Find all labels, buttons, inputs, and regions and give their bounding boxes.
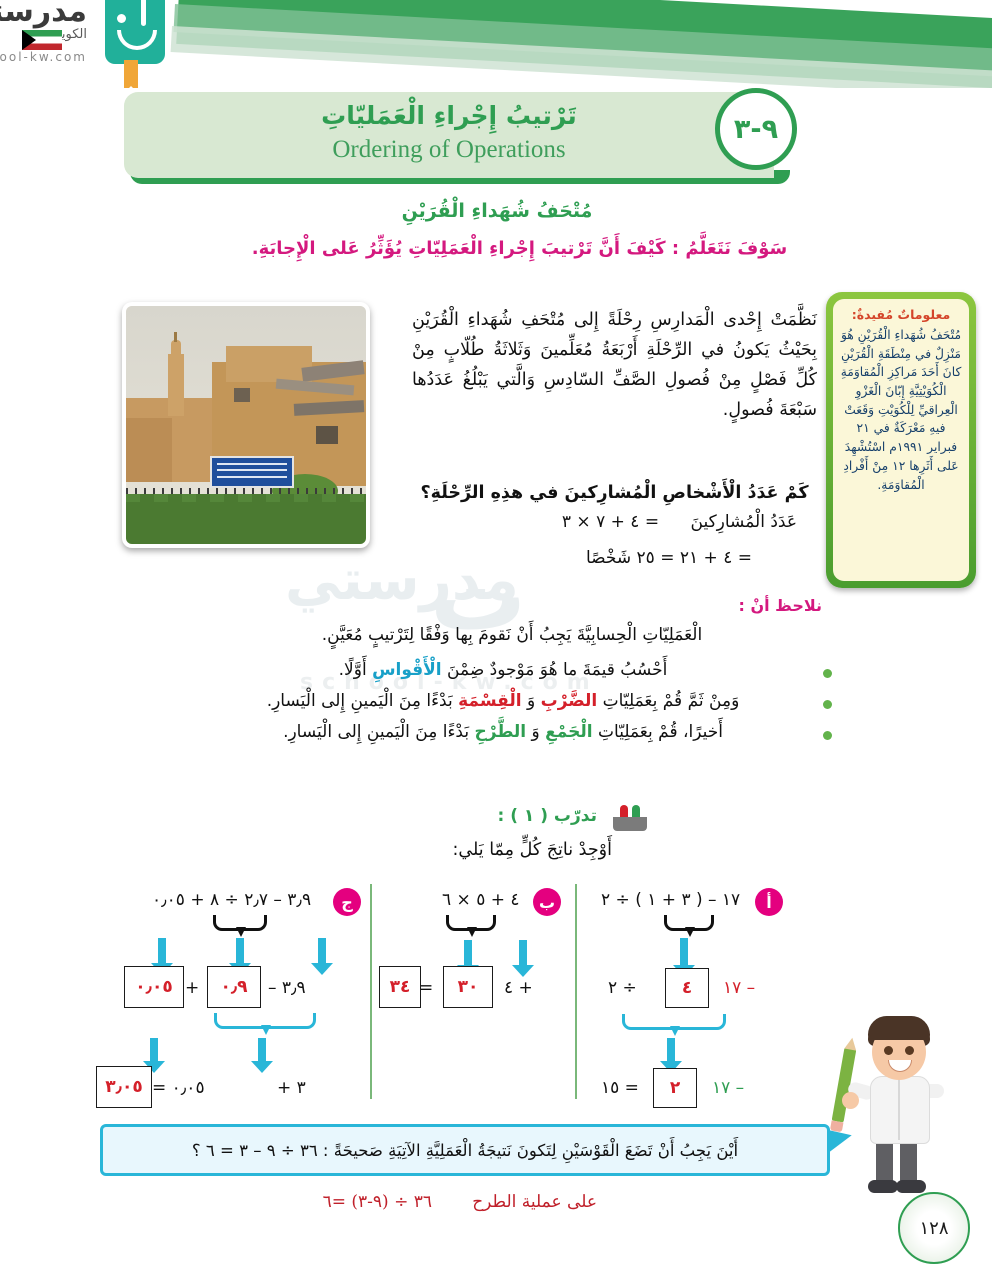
problem-label-a: أ <box>755 888 783 916</box>
problem-label-c: ج <box>333 888 361 916</box>
problem-c-plus: + <box>185 978 200 998</box>
problem-c-brace-2 <box>214 1013 316 1029</box>
problem-a-brace-1 <box>664 915 714 931</box>
boy-mascot-illustration <box>832 1008 972 1198</box>
problem-c-brace-1 <box>213 915 267 931</box>
problem-b-brace <box>446 915 496 931</box>
problem-b-step-box: ٣٠ <box>443 966 493 1008</box>
bullet-dot-icon <box>823 731 832 740</box>
answer-note: على عملية الطرح <box>472 1192 597 1212</box>
problem-a-brace-2 <box>622 1014 726 1030</box>
rule-text-2: وَمِنْ ثَمَّ قُمْ بِعَمَلِيّاتِ الضَّرْب… <box>192 691 814 711</box>
column-separator-1 <box>575 884 577 1099</box>
problem-a-final-right: ١٧ – <box>712 1078 744 1098</box>
museum-photo <box>122 302 370 548</box>
list-item: وَمِنْ ثَمَّ قُمْ بِعَمَلِيّاتِ الضَّرْب… <box>192 691 832 711</box>
problem-a-expression: ١٧ – ( ٣ + ١ ) ÷ ٢ <box>601 890 740 910</box>
textbook-page: مدرستي الكويتية school-kw.com ت مدرستي s… <box>0 0 992 1276</box>
problem-c-arrow-3 <box>158 938 166 964</box>
problem-c-arrow-5 <box>150 1038 158 1062</box>
bullet-dot-icon <box>823 669 832 678</box>
problem-label-b: ب <box>533 888 561 916</box>
brand-name: مدرستي <box>0 0 87 29</box>
rule-text-1: أَحْسُبُ قيمَةَ ما هُوَ مَوْجودٌ ضِمْنَ … <box>192 660 814 680</box>
problem-a-final-left: ١٥ = <box>601 1078 639 1098</box>
problem-c-expression: ٣٫٩ – ٢٫٧ ÷ ٨ + ٠٫٠٥ <box>152 890 311 910</box>
learning-objective: سَوْفَ نَتَعَلَّمُ : كَيْفَ أَنَّ تَرْتي… <box>197 238 842 259</box>
calculation-line-1: عَدَدُ الْمُشارِكينَ = ٤ + ٧ × ٣ <box>407 512 797 532</box>
problem-b-expression: ٤ + ٥ × ٦ <box>442 890 520 910</box>
problem-b-arrow-1 <box>464 940 472 966</box>
note-lead-text: الْعَمَلِيّاتِ الْحِسابِيَّةَ يَجِبُ أَن… <box>202 625 822 645</box>
lesson-question: كَمْ عَدَدُ الْأَشْخاصِ الْمُشارِكينَ في… <box>412 478 817 508</box>
list-item: أَحْسُبُ قيمَةَ ما هُوَ مَوْجودٌ ضِمْنَ … <box>192 660 832 680</box>
problem-a-arrow-2 <box>667 1038 675 1062</box>
problem-c-final-equals: = ٠٫٠٥ <box>152 1078 205 1098</box>
museum-sign <box>210 456 294 488</box>
column-separator-2 <box>370 884 372 1099</box>
section-title-banner: تَرْتيبُ إِجْراءِ الْعَمَليّاتِ Ordering… <box>124 92 774 178</box>
useful-info-box: معلوماتٌ مُفيدةٌ: مُتْحَفُ شُهَداءِ الْق… <box>826 292 976 588</box>
practice-heading: تدرّب ( ١ ) : <box>498 806 597 826</box>
problem-a-step-right: ١٧ – <box>723 978 755 998</box>
minaret-icon <box>168 354 184 416</box>
list-item: أَخيرًا، قُمْ بِعَمَلِيّاتِ الْجَمْعِ وَ… <box>192 722 832 742</box>
rule-text-3: أَخيرًا، قُمْ بِعَمَلِيّاتِ الْجَمْعِ وَ… <box>192 722 814 742</box>
problem-b-equals: = <box>419 978 434 998</box>
madrasati-logo-icon <box>105 0 165 64</box>
problem-c-arrow-1 <box>318 938 326 964</box>
calculation-line-2: = ٤ + ٢١ = ٢٥ شَخْصًا <box>412 548 752 568</box>
section-title-english: Ordering of Operations <box>124 136 774 164</box>
practice-instruction: أَوْجِدْ ناتِجَ كُلٍّ مِمّا يَلي: <box>453 840 613 860</box>
problem-c-arrow-2 <box>236 938 244 964</box>
problem-c-box-mid: ٠٫٩ <box>207 966 261 1008</box>
problem-a-arrow-1 <box>680 938 688 966</box>
logo-ribbon-icon <box>124 60 138 86</box>
section-title-arabic: تَرْتيبُ إِجْراءِ الْعَمَليّاتِ <box>124 101 774 130</box>
bullet-dot-icon <box>823 700 832 709</box>
calc-label: عَدَدُ الْمُشارِكينَ <box>691 512 798 532</box>
problem-a-step-left: ٢ ÷ <box>608 978 637 998</box>
info-box-heading: معلوماتٌ مُفيدةٌ: <box>840 307 962 322</box>
problem-a-final-box: ٢ <box>653 1068 697 1108</box>
question-callout-box: أَيْنَ يَجِبُ أَنْ تَضَعَ الْقَوْسَيْنِ … <box>100 1124 830 1176</box>
problem-a-step-box: ٤ <box>665 968 709 1008</box>
answer-equation: ٣٦ ÷ (٩-٣) =٦ <box>323 1192 432 1212</box>
page-number: ١٢٨ <box>898 1192 970 1264</box>
problem-c-final-box: ٣٫٠٥ <box>96 1066 152 1108</box>
lesson-paragraph: نَظَّمَتْ إِحْدى الْمَدارِسِ رِحْلَةً إِ… <box>412 305 817 425</box>
note-heading: نلاحظ أنْ : <box>739 596 823 615</box>
problem-c-box-left: ٠٫٠٥ <box>124 966 184 1008</box>
kuwait-flag-icon <box>22 30 62 50</box>
museum-title: مُتْحَفُ شُهَداءِ الْقُرَيْنِ <box>197 200 797 222</box>
problem-b-result-box: ٣٤ <box>379 966 421 1008</box>
problem-c-final-plus: + ٣ <box>277 1078 306 1098</box>
two-people-book-icon <box>613 803 647 831</box>
problem-c-arrow-4 <box>258 1038 266 1062</box>
info-box-text: مُتْحَفُ شُهَداءِ الْقُرَيْنِ هُوَ مَنْز… <box>840 326 962 494</box>
brand-url: school-kw.com <box>0 50 87 64</box>
problem-b-arrow-2 <box>519 940 527 966</box>
problem-c-tail: – ٣٫٩ <box>268 978 306 998</box>
top-branding-bar: مدرستي الكويتية school-kw.com <box>0 0 992 88</box>
problem-b-step-right: ٤ + <box>504 978 533 998</box>
lesson-number-badge: ٩-٣ <box>715 88 797 170</box>
calc-expression-1: = ٤ + ٧ × ٣ <box>562 512 659 532</box>
rules-list: أَحْسُبُ قيمَةَ ما هُوَ مَوْجودٌ ضِمْنَ … <box>192 660 832 753</box>
